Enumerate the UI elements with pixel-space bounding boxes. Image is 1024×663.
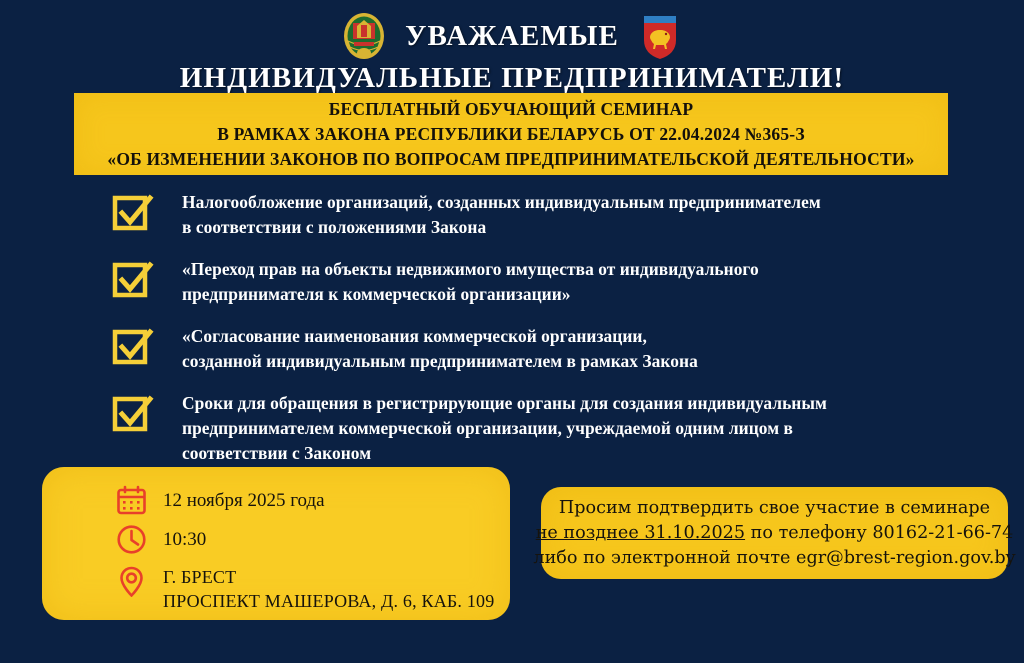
checkbox-checked-icon xyxy=(112,259,154,299)
calendar-icon xyxy=(116,485,147,516)
event-time: 10:30 xyxy=(163,528,206,552)
event-location-city: Г. БРЕСТ xyxy=(163,565,494,589)
list-item-line-2: созданной индивидуальным предпринимателе… xyxy=(182,349,698,374)
list-item-text: «Переход прав на объекты недвижимого иму… xyxy=(182,257,759,307)
list-item-text: Сроки для обращения в регистрирующие орг… xyxy=(182,391,827,466)
clock-icon xyxy=(116,524,147,555)
list-item-line-2: предпринимателя к коммерческой организац… xyxy=(182,282,759,307)
list-item: Сроки для обращения в регистрирующие орг… xyxy=(112,391,982,466)
rsvp-deadline: не позднее 31.10.2025 xyxy=(536,523,745,543)
banner-line-3: «ОБ ИЗМЕНЕНИИ ЗАКОНОВ ПО ВОПРОСАМ ПРЕДПР… xyxy=(107,147,914,172)
list-item-line-2: предпринимателем коммерческой организаци… xyxy=(182,416,827,441)
list-item-text: «Согласование наименования коммерческой … xyxy=(182,324,698,374)
header-line-2: ИНДИВИДУАЛЬНЫЕ ПРЕДПРИНИМАТЕЛИ! xyxy=(0,62,1024,95)
rsvp-phone: по телефону 80162-21-66-74 xyxy=(745,523,1013,543)
checkbox-checked-icon xyxy=(112,326,154,366)
list-item-line-1: «Переход прав на объекты недвижимого иму… xyxy=(182,257,759,282)
checkbox-checked-icon xyxy=(112,393,154,433)
topics-checklist: Налогообложение организаций, созданных и… xyxy=(112,190,982,483)
contact-line-3: либо по электронной почте egr@brest-regi… xyxy=(533,546,1015,571)
event-location-row: Г. БРЕСТ ПРОСПЕКТ МАШЕРОВА, Д. 6, КАБ. 1… xyxy=(116,565,494,613)
contact-line-2: не позднее 31.10.2025 по телефону 80162-… xyxy=(536,521,1014,546)
banner-line-1: БЕСПЛАТНЫЙ ОБУЧАЮЩИЙ СЕМИНАР xyxy=(329,97,693,122)
event-location: Г. БРЕСТ ПРОСПЕКТ МАШЕРОВА, Д. 6, КАБ. 1… xyxy=(163,565,494,613)
list-item-text: Налогообложение организаций, созданных и… xyxy=(182,190,821,240)
checkbox-checked-icon xyxy=(112,192,154,232)
brest-coat-of-arms-icon xyxy=(637,11,683,61)
list-item-line-2: в соответствии с положениями Закона xyxy=(182,215,821,240)
list-item-line-1: Налогообложение организаций, созданных и… xyxy=(182,190,821,215)
poster-header: УВАЖАЕМЫЕ ИНДИВИДУАЛЬНЫЕ ПРЕДПРИНИМАТЕЛИ… xyxy=(0,8,1024,95)
event-date-row: 12 ноября 2025 года xyxy=(116,485,325,516)
rsvp-contact-card: Просим подтвердить свое участие в семина… xyxy=(541,487,1008,579)
map-pin-icon xyxy=(116,566,147,597)
list-item: «Согласование наименования коммерческой … xyxy=(112,324,982,374)
seminar-poster: УВАЖАЕМЫЕ ИНДИВИДУАЛЬНЫЕ ПРЕДПРИНИМАТЕЛИ… xyxy=(0,0,1024,663)
list-item-line-1: Сроки для обращения в регистрирующие орг… xyxy=(182,391,827,416)
event-details-card: 12 ноября 2025 года 10:30 Г. БРЕСТ ПРОСП… xyxy=(42,467,510,620)
event-time-row: 10:30 xyxy=(116,524,206,555)
seminar-title-banner: БЕСПЛАТНЫЙ ОБУЧАЮЩИЙ СЕМИНАР В РАМКАХ ЗА… xyxy=(74,93,948,175)
contact-line-1: Просим подтвердить свое участие в семина… xyxy=(559,496,990,521)
header-top-row: УВАЖАЕМЫЕ xyxy=(0,8,1024,64)
event-date: 12 ноября 2025 года xyxy=(163,489,325,513)
banner-line-2: В РАМКАХ ЗАКОНА РЕСПУБЛИКИ БЕЛАРУСЬ ОТ 2… xyxy=(217,122,805,147)
belarus-coat-of-arms-icon xyxy=(341,11,387,61)
list-item: «Переход прав на объекты недвижимого иму… xyxy=(112,257,982,307)
header-line-1: УВАЖАЕМЫЕ xyxy=(405,20,619,53)
list-item-line-1: «Согласование наименования коммерческой … xyxy=(182,324,698,349)
event-location-address: ПРОСПЕКТ МАШЕРОВА, Д. 6, КАБ. 109 xyxy=(163,589,494,613)
list-item: Налогообложение организаций, созданных и… xyxy=(112,190,982,240)
list-item-line-3: соответствии с Законом xyxy=(182,441,827,466)
